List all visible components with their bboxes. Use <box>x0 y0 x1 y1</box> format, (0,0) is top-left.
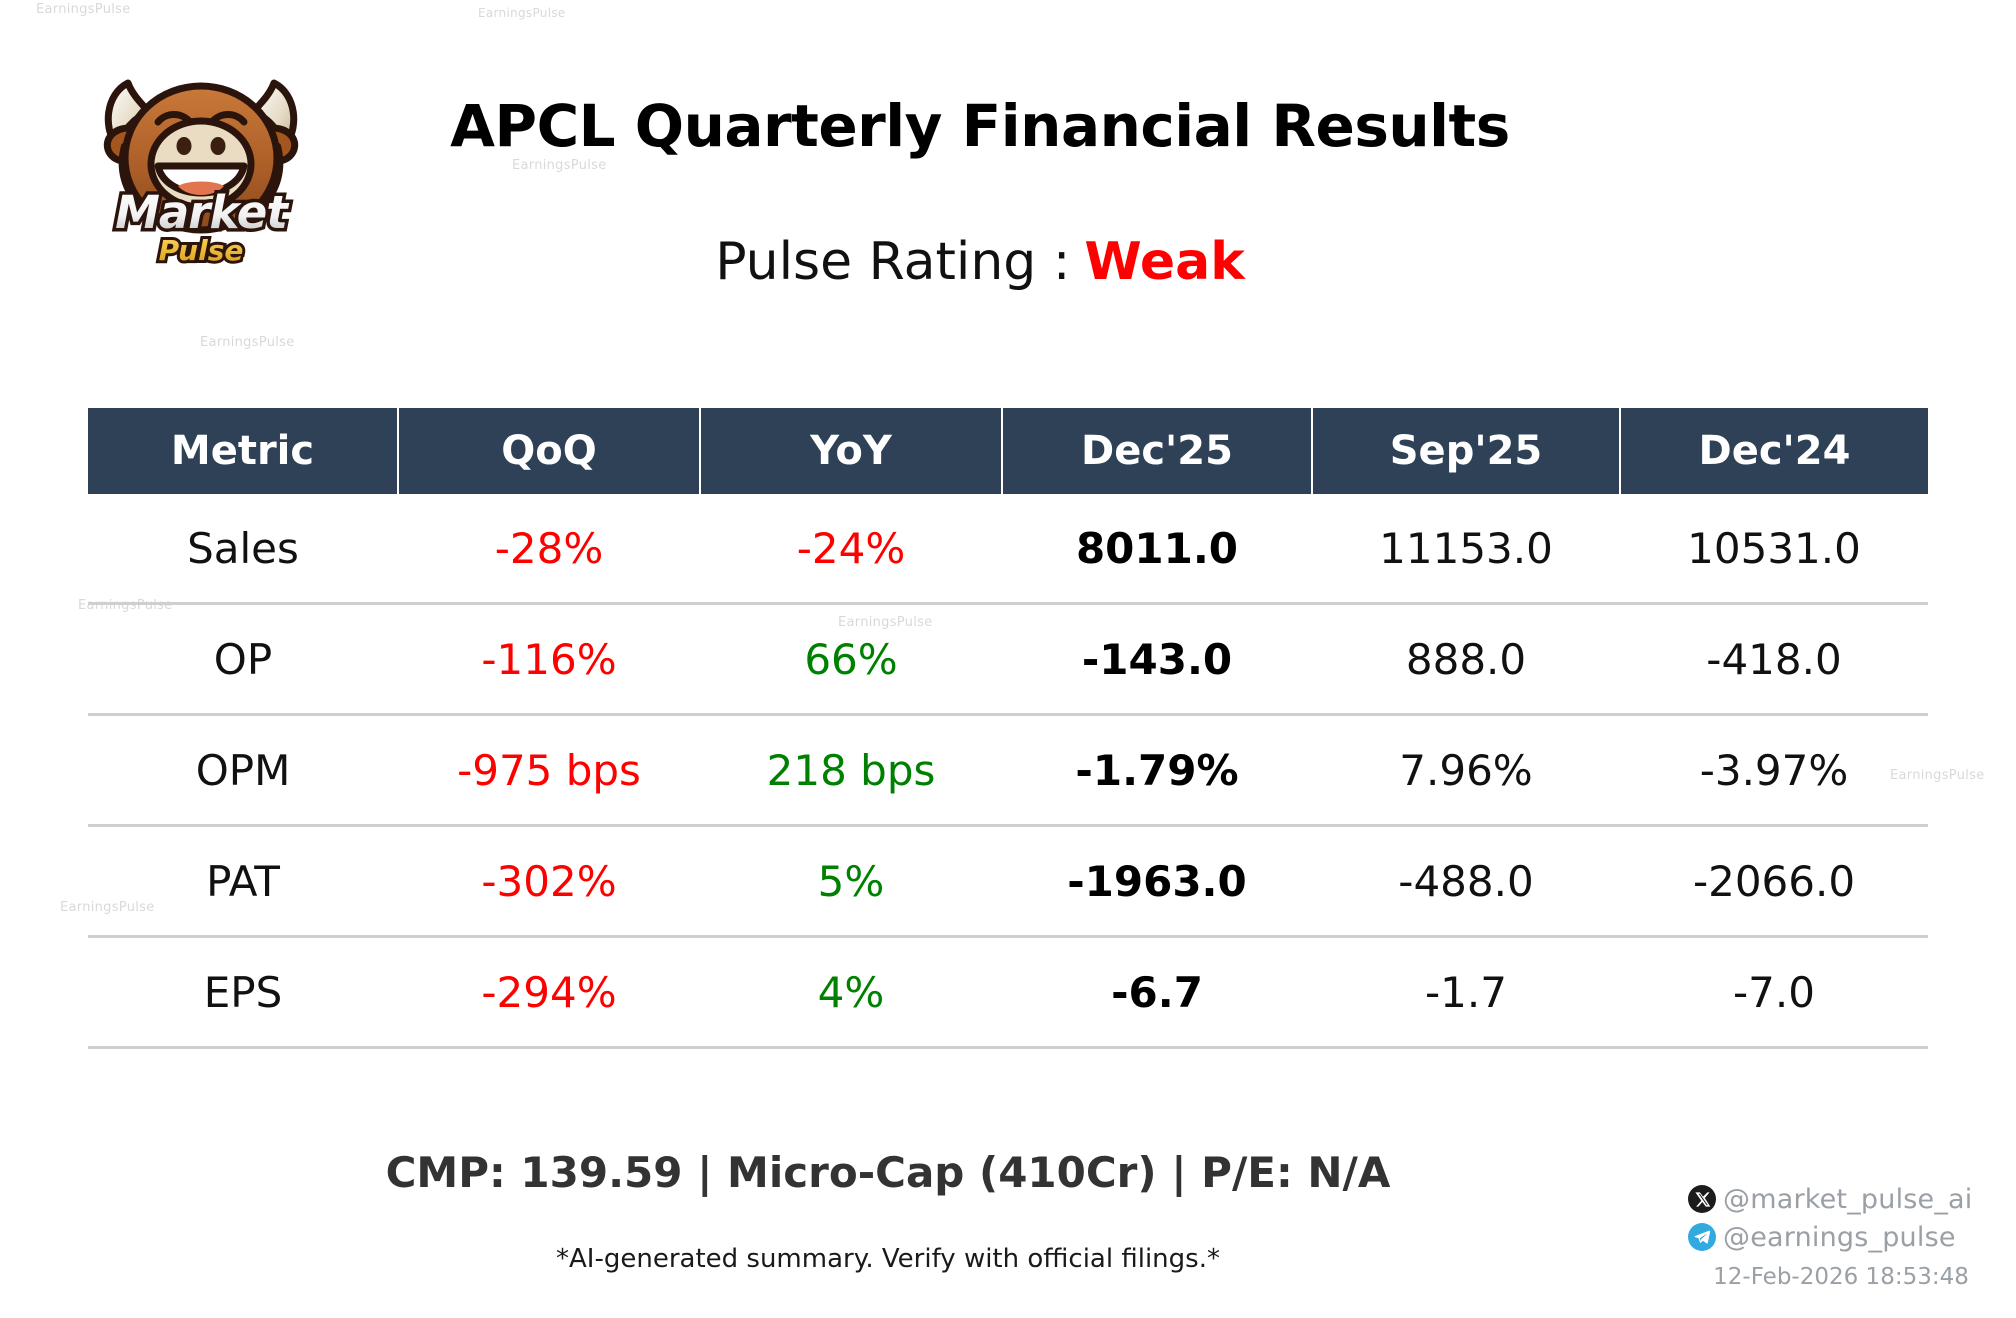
row-dec25-value: 8011.0 <box>1002 494 1312 604</box>
row-sep25-value: -1.7 <box>1312 937 1620 1048</box>
row-dec24-value: -3.97% <box>1620 715 1928 826</box>
row-sep25-value: 11153.0 <box>1312 494 1620 604</box>
svg-text:Market: Market <box>115 186 289 239</box>
row-metric-label: EPS <box>88 937 398 1048</box>
table-row: OPM -975 bps 218 bps -1.79% 7.96% -3.97% <box>88 715 1928 826</box>
table-header-row: Metric QoQ YoY Dec'25 Sep'25 Dec'24 <box>88 408 1928 494</box>
row-qoq-value: -28% <box>398 494 700 604</box>
watermark: EarningsPulse <box>200 335 295 350</box>
social-row-x[interactable]: @market_pulse_ai <box>1688 1180 1988 1218</box>
row-qoq-value: -294% <box>398 937 700 1048</box>
table-row: EPS -294% 4% -6.7 -1.7 -7.0 <box>88 937 1928 1048</box>
x-twitter-icon <box>1688 1185 1716 1213</box>
row-metric-label: PAT <box>88 826 398 937</box>
row-qoq-value: -302% <box>398 826 700 937</box>
row-dec24-value: -418.0 <box>1620 604 1928 715</box>
column-header-dec24: Dec'24 <box>1620 408 1928 494</box>
pulse-rating-label: Pulse Rating : <box>715 232 1070 292</box>
row-yoy-value: 66% <box>700 604 1002 715</box>
social-handle-x: @market_pulse_ai <box>1723 1184 1973 1215</box>
svg-text:Pulse: Pulse <box>159 234 244 267</box>
watermark: EarningsPulse <box>36 2 131 17</box>
row-qoq-value: -975 bps <box>398 715 700 826</box>
market-pulse-bull-logo: Market Pulse <box>66 36 336 276</box>
row-metric-label: OPM <box>88 715 398 826</box>
row-yoy-value: -24% <box>700 494 1002 604</box>
social-handle-telegram: @earnings_pulse <box>1723 1222 1956 1253</box>
row-dec25-value: -1963.0 <box>1002 826 1312 937</box>
column-header-qoq: QoQ <box>398 408 700 494</box>
table-row: OP -116% 66% -143.0 888.0 -418.0 <box>88 604 1928 715</box>
row-qoq-value: -116% <box>398 604 700 715</box>
row-dec25-value: -6.7 <box>1002 937 1312 1048</box>
row-yoy-value: 4% <box>700 937 1002 1048</box>
column-header-dec25: Dec'25 <box>1002 408 1312 494</box>
generated-timestamp: 12-Feb-2026 18:53:48 <box>1688 1264 1988 1290</box>
social-handles: @market_pulse_ai @earnings_pulse 12-Feb-… <box>1688 1180 1988 1290</box>
telegram-icon <box>1688 1223 1716 1251</box>
watermark: EarningsPulse <box>512 158 607 173</box>
cmp-summary-line: CMP: 139.59 | Micro-Cap (410Cr) | P/E: N… <box>108 1148 1668 1197</box>
financial-results-table: Metric QoQ YoY Dec'25 Sep'25 Dec'24 Sale… <box>88 408 1928 1049</box>
row-dec24-value: -7.0 <box>1620 937 1928 1048</box>
row-yoy-value: 5% <box>700 826 1002 937</box>
disclaimer-text: *AI-generated summary. Verify with offic… <box>108 1244 1668 1274</box>
row-sep25-value: -488.0 <box>1312 826 1620 937</box>
row-dec25-value: -1.79% <box>1002 715 1312 826</box>
row-dec24-value: -2066.0 <box>1620 826 1928 937</box>
column-header-metric: Metric <box>88 408 398 494</box>
row-metric-label: OP <box>88 604 398 715</box>
pulse-rating: Pulse Rating :Weak <box>330 232 1630 292</box>
table-row: Sales -28% -24% 8011.0 11153.0 10531.0 <box>88 494 1928 604</box>
column-header-sep25: Sep'25 <box>1312 408 1620 494</box>
row-sep25-value: 7.96% <box>1312 715 1620 826</box>
column-header-yoy: YoY <box>700 408 1002 494</box>
row-yoy-value: 218 bps <box>700 715 1002 826</box>
row-metric-label: Sales <box>88 494 398 604</box>
page-title: APCL Quarterly Financial Results <box>330 92 1630 160</box>
social-row-telegram[interactable]: @earnings_pulse <box>1688 1218 1988 1256</box>
row-dec25-value: -143.0 <box>1002 604 1312 715</box>
row-sep25-value: 888.0 <box>1312 604 1620 715</box>
pulse-rating-value: Weak <box>1084 232 1244 292</box>
row-dec24-value: 10531.0 <box>1620 494 1928 604</box>
table-row: PAT -302% 5% -1963.0 -488.0 -2066.0 <box>88 826 1928 937</box>
watermark: EarningsPulse <box>478 6 566 20</box>
